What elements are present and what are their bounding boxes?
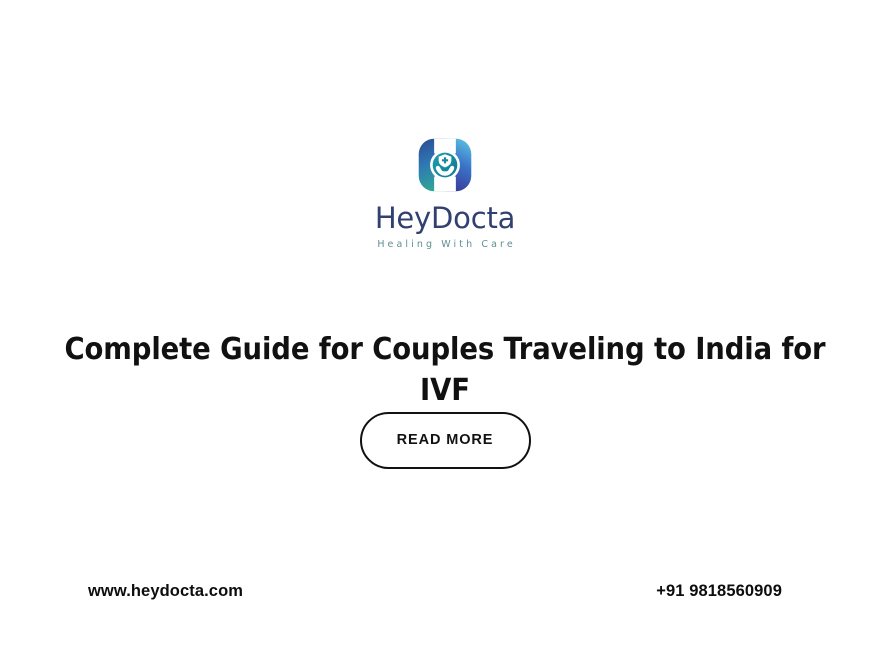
footer-website[interactable]: www.heydocta.com bbox=[88, 583, 243, 600]
page-title-line-1: Complete Guide for Couples Traveling to … bbox=[65, 332, 772, 367]
brand-logo: HeyDocta Healing With Care bbox=[0, 136, 890, 250]
cta-container: READ MORE bbox=[0, 412, 890, 469]
footer-phone[interactable]: +91 9818560909 bbox=[656, 583, 782, 600]
brand-tagline: Healing With Care bbox=[374, 240, 516, 250]
promo-poster: HeyDocta Healing With Care Complete Guid… bbox=[0, 0, 890, 660]
brand-wordmark: HeyDocta bbox=[375, 204, 515, 233]
footer: www.heydocta.com +91 9818560909 bbox=[88, 583, 782, 600]
page-title: Complete Guide for Couples Traveling to … bbox=[60, 330, 830, 411]
read-more-button[interactable]: READ MORE bbox=[360, 412, 531, 469]
heydocta-logo-mark bbox=[416, 136, 474, 194]
